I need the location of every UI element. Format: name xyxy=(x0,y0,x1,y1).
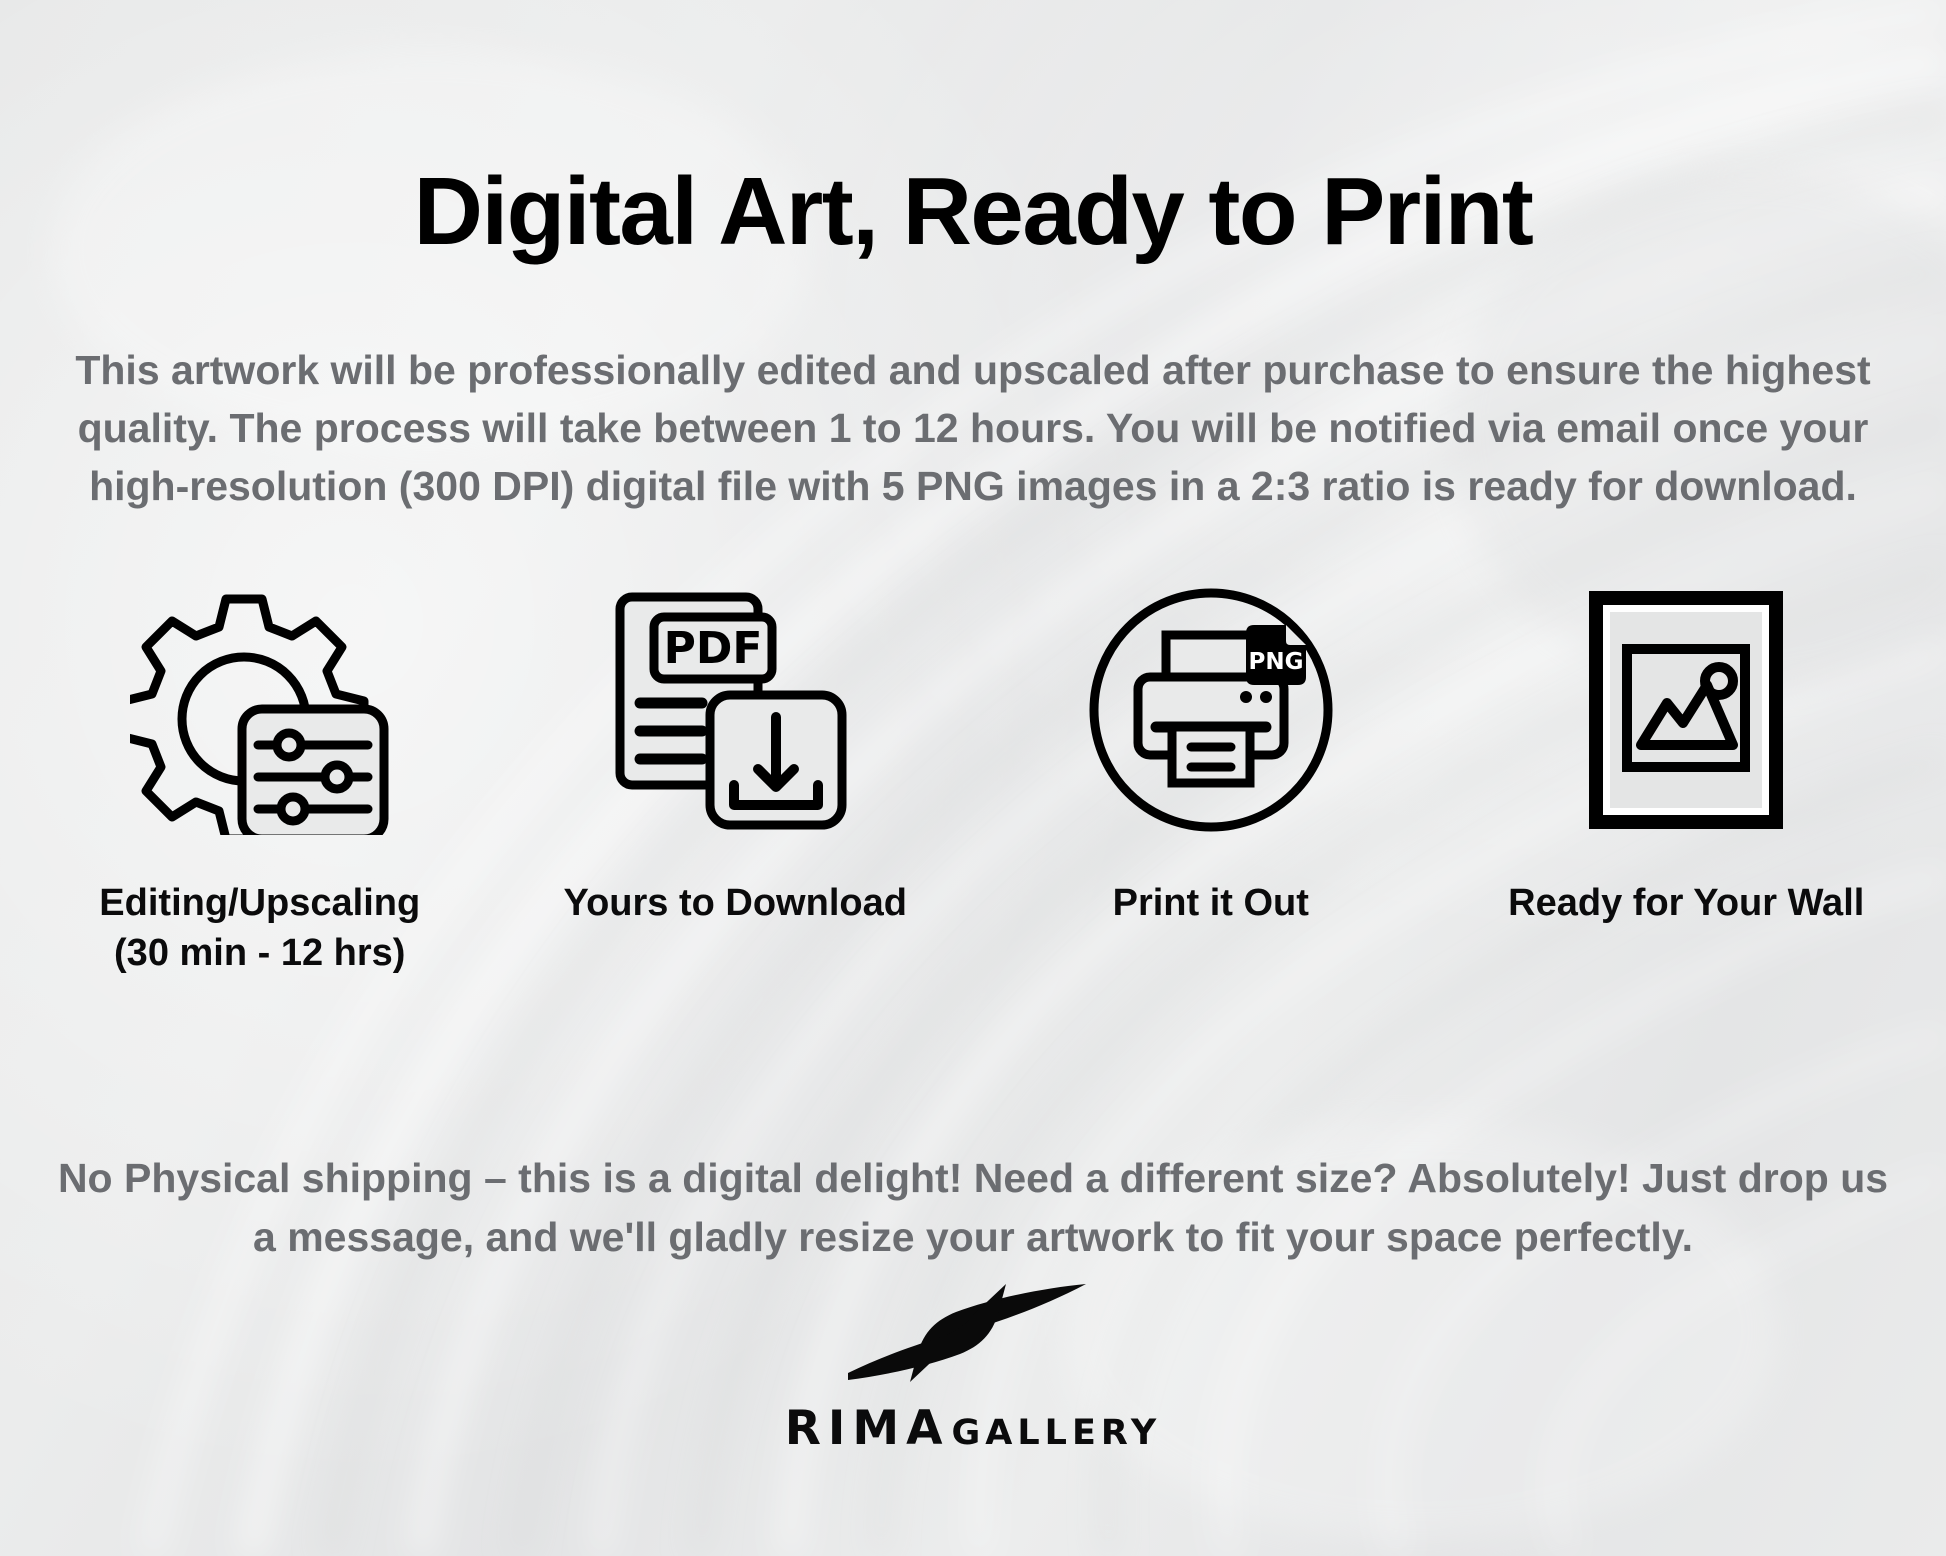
promo-card: Digital Art, Ready to Print This artwork… xyxy=(0,0,1946,1556)
pdf-download-icon: PDF xyxy=(610,560,860,860)
feature-item-download: PDF Yours to Download xyxy=(525,560,945,928)
feature-caption: Editing/Upscaling (30 min - 12 hrs) xyxy=(99,878,420,978)
feature-item-wall: Ready for Your Wall xyxy=(1476,560,1896,928)
feature-caption: Ready for Your Wall xyxy=(1508,878,1864,928)
feature-caption: Print it Out xyxy=(1113,878,1309,928)
framed-picture-icon xyxy=(1583,560,1789,860)
footnote-paragraph: No Physical shipping – this is a digital… xyxy=(43,1149,1903,1268)
brand-word-primary: RIMA xyxy=(785,1401,950,1456)
pdf-badge-label: PDF xyxy=(664,623,763,674)
page-title: Digital Art, Ready to Print xyxy=(0,162,1946,263)
gear-sliders-icon xyxy=(130,560,390,860)
feature-item-editing: Editing/Upscaling (30 min - 12 hrs) xyxy=(50,560,470,978)
feature-caption: Yours to Download xyxy=(564,878,907,928)
feature-item-print: PNG Print it Out xyxy=(1001,560,1421,928)
brand-wordmark: RIMA GALLERY xyxy=(785,1401,1162,1456)
feature-row: Editing/Upscaling (30 min - 12 hrs) PDF xyxy=(0,560,1946,978)
intro-paragraph: This artwork will be professionally edit… xyxy=(58,341,1888,516)
brand-logo: RIMA GALLERY xyxy=(763,1278,1183,1456)
png-badge-label: PNG xyxy=(1248,649,1303,675)
rima-swoosh-logo-icon xyxy=(848,1278,1098,1395)
brand-word-secondary: GALLERY xyxy=(952,1413,1162,1453)
printer-circle-icon: PNG xyxy=(1086,560,1336,860)
